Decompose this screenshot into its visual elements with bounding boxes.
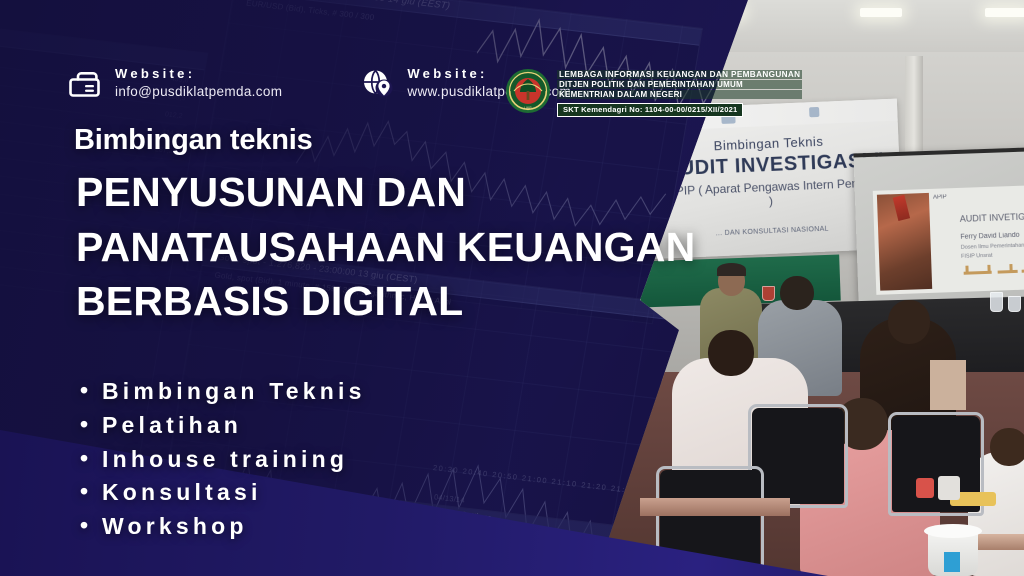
title-line-1: PENYUSUNAN DAN [76, 165, 696, 220]
list-item: Inhouse training [80, 443, 366, 477]
svg-text:LIKP: LIKP [524, 106, 532, 110]
list-item: Konsultasi [80, 476, 366, 510]
cert-line-2: DITJEN POLITIK DAN PEMERINTAHAN UMUM [557, 80, 802, 89]
cert-line-1: LEMBAGA INFORMASI KEUANGAN DAN PEMBANGUN… [557, 70, 802, 79]
garuda-seal-icon: LIKP [505, 68, 551, 114]
contact-bar: Website: info@pusdiklatpemda.com Website… [68, 66, 571, 100]
cert-line-3: KEMENTRIAN DALAM NEGERI [557, 90, 802, 99]
page-title: PENYUSUNAN DAN PANATAUSAHAAN KEUANGAN BE… [76, 165, 696, 329]
list-item: Pelatihan [80, 409, 366, 443]
cert-skt-number: SKT Kemendagri No: 1104-00-00/0215/XII/2… [557, 103, 743, 117]
mailbox-icon [68, 66, 102, 100]
title-line-2: PANATAUSAHAAN KEUANGAN [76, 220, 696, 275]
poster-canvas: 435,8 868,5 012,2 414,8 287,20 107,29 EU… [0, 0, 1024, 576]
certification-text: LEMBAGA INFORMASI KEUANGAN DAN PEMBANGUN… [557, 68, 802, 117]
certification-badge: LIKP LEMBAGA INFORMASI KEUANGAN DAN PEMB… [505, 68, 802, 117]
globe-pin-icon [360, 66, 394, 100]
kicker-text: Bimbingan teknis [74, 124, 313, 157]
service-list: Bimbingan Teknis Pelatihan Inhouse train… [80, 375, 366, 544]
contact-email[interactable]: Website: info@pusdiklatpemda.com [68, 66, 282, 100]
list-item: Workshop [80, 510, 366, 544]
contact-email-label: Website: [115, 66, 282, 83]
contact-email-text: Website: info@pusdiklatpemda.com [115, 66, 282, 100]
title-line-3: BERBASIS DIGITAL [76, 274, 696, 329]
contact-email-value: info@pusdiklatpemda.com [115, 83, 282, 100]
list-item: Bimbingan Teknis [80, 375, 366, 409]
